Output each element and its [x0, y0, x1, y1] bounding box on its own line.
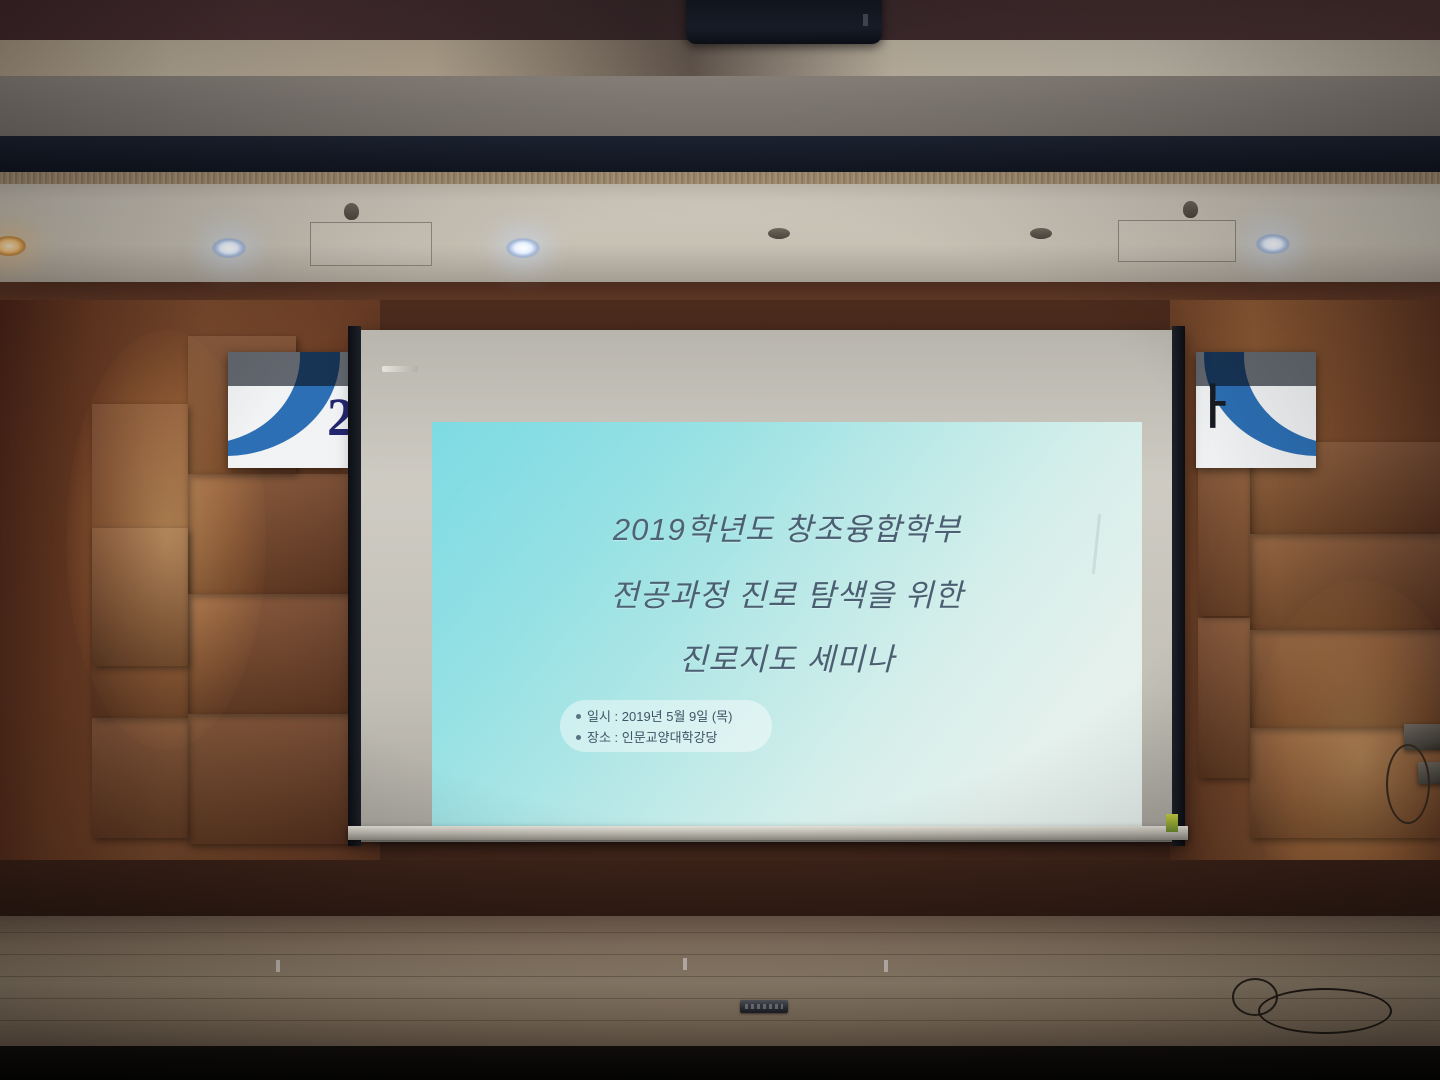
wall-panel	[188, 474, 358, 594]
stage-front-edge	[0, 1046, 1440, 1080]
ceiling-trim-molding	[0, 172, 1440, 184]
sprinkler-icon	[1183, 201, 1198, 218]
ceiling-grey-band	[0, 76, 1440, 140]
screen-left-edge	[348, 326, 361, 846]
downlight-icon	[1256, 234, 1290, 254]
ceiling-speaker-icon	[686, 0, 882, 44]
banner-right: ㅏ	[1196, 352, 1316, 468]
bullet-icon	[576, 714, 581, 719]
wall-panel	[1250, 630, 1440, 728]
stage-floor	[0, 916, 1440, 1050]
sprinkler-icon	[768, 228, 790, 239]
slide-title-line-1: 2019학년도 창조융합학부	[432, 504, 1142, 549]
auditorium-photo: 2 ㅏ 2019학년도 창조융합학부 전공과정 진로 탐색을 위한 진로지도 세…	[0, 0, 1440, 1080]
sprinkler-icon	[344, 203, 359, 220]
banner-shadow	[228, 352, 348, 386]
floor-marker	[884, 960, 888, 972]
banner-left-char: 2	[327, 390, 348, 444]
floor-plank-line	[0, 998, 1440, 999]
floor-marker	[683, 958, 687, 970]
ceiling-navy-band	[0, 136, 1440, 174]
speaker-led-icon	[863, 14, 868, 26]
stage-cable	[1258, 988, 1392, 1034]
floor-plank-line	[0, 954, 1440, 955]
slide-title-line-3: 진로지도 세미나	[432, 634, 1142, 679]
slide-info-item-date: 일시 : 2019년 5월 9일 (목)	[576, 706, 806, 727]
wall-panel	[92, 718, 188, 838]
banner-left: 2	[228, 352, 348, 468]
bullet-icon	[576, 735, 581, 740]
wall-panel	[92, 528, 188, 718]
screen-right-edge	[1172, 326, 1185, 846]
wall-panel	[1250, 534, 1440, 630]
floor-plank-line	[0, 932, 1440, 933]
wall-panel	[188, 714, 358, 844]
projected-slide: 2019학년도 창조융합학부 전공과정 진로 탐색을 위한 진로지도 세미나 일…	[432, 422, 1142, 834]
sprinkler-icon	[1030, 228, 1052, 239]
slide-title-line-2: 전공과정 진로 탐색을 위한	[432, 570, 1142, 615]
floor-plank-line	[0, 976, 1440, 977]
screen-bottom-bar	[348, 826, 1188, 840]
slide-content: 2019학년도 창조융합학부 전공과정 진로 탐색을 위한 진로지도 세미나 일…	[432, 422, 1142, 834]
slide-info-list: 일시 : 2019년 5월 9일 (목) 장소 : 인문교양대학강당	[576, 706, 806, 748]
wall-panel	[1198, 452, 1250, 616]
floor-marker	[276, 960, 280, 972]
slide-info-date-text: 일시 : 2019년 5월 9일 (목)	[587, 706, 732, 727]
ceiling-access-panel	[1118, 220, 1236, 262]
ceiling-access-panel	[310, 222, 432, 266]
device-cable	[1386, 744, 1430, 824]
slide-info-item-place: 장소 : 인문교양대학강당	[576, 727, 806, 748]
screen-clip-icon	[382, 366, 418, 372]
wall-panel	[1198, 618, 1250, 778]
ceiling-light-band	[0, 40, 1440, 80]
stage-wall-base	[0, 860, 1440, 922]
stage-floor-box	[740, 1000, 788, 1013]
floor-plank-line	[0, 1020, 1440, 1021]
downlight-icon	[212, 238, 246, 258]
banner-right-char: ㅏ	[1196, 384, 1236, 432]
downlight-icon	[506, 238, 540, 258]
wall-panel	[188, 594, 358, 714]
slide-info-place-text: 장소 : 인문교양대학강당	[587, 727, 717, 748]
screen-label-tab	[1166, 814, 1178, 832]
